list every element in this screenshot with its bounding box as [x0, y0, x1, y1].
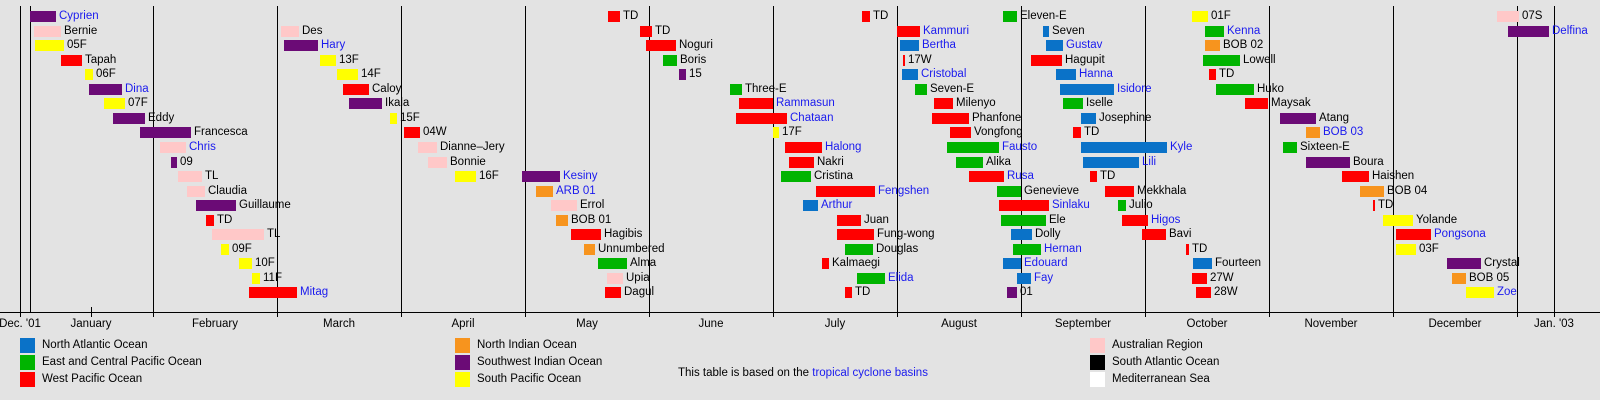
- storm-label[interactable]: Edouard: [1024, 256, 1067, 270]
- storm-bar[interactable]: [640, 26, 652, 37]
- storm-label: 05F: [67, 38, 87, 52]
- storm-label[interactable]: Chris: [189, 140, 216, 154]
- storm-bar[interactable]: [343, 84, 369, 95]
- legend-label: South Pacific Ocean: [477, 373, 581, 385]
- storm-label: Genevieve: [1024, 184, 1079, 198]
- storm-label: TD: [217, 213, 232, 227]
- storm-bar[interactable]: [428, 157, 447, 168]
- storm-label: TD: [1100, 169, 1115, 183]
- storm-bar[interactable]: [932, 113, 969, 124]
- storm-bar[interactable]: [584, 244, 595, 255]
- timeline-row: 05FHaryNoguriBerthaGustavBOB 02: [0, 40, 1600, 51]
- timeline-row: DinaCaloyThree-ESeven-EIsidoreHuko: [0, 84, 1600, 95]
- timeline-row: 10FAlmaKalmaegiEdouardFourteenCrystal: [0, 258, 1600, 269]
- storm-label: Iselle: [1086, 96, 1113, 110]
- axis-tick: [1517, 307, 1518, 317]
- storm-bar[interactable]: [104, 98, 125, 109]
- storm-label: Eddy: [148, 111, 174, 125]
- storm-label: Bernie: [64, 24, 97, 38]
- storm-bar[interactable]: [1452, 273, 1466, 284]
- axis-tick: [1393, 307, 1394, 317]
- storm-label: TD: [1084, 125, 1099, 139]
- axis-tick: [91, 307, 92, 317]
- storm-bar[interactable]: [1090, 171, 1097, 182]
- storm-label: 14F: [361, 67, 381, 81]
- storm-label: Hagibis: [604, 227, 642, 241]
- storm-label[interactable]: Pongsona: [1434, 227, 1486, 241]
- storm-bar[interactable]: [1447, 258, 1481, 269]
- storm-label[interactable]: Cyprien: [59, 9, 99, 23]
- storm-label: Hagupit: [1065, 53, 1105, 67]
- storm-bar[interactable]: [1001, 215, 1046, 226]
- storm-bar[interactable]: [281, 26, 299, 37]
- storm-label: 17F: [782, 125, 802, 139]
- timeline-row: Tapah13FBoris17WHagupitLowell: [0, 55, 1600, 66]
- storm-label[interactable]: Sinlaku: [1052, 198, 1090, 212]
- storm-bar[interactable]: [1031, 55, 1062, 66]
- legend-label: North Atlantic Ocean: [42, 339, 147, 351]
- storm-bar[interactable]: [206, 215, 214, 226]
- storm-bar[interactable]: [337, 69, 358, 80]
- storm-bar[interactable]: [536, 186, 553, 197]
- storm-bar[interactable]: [730, 84, 742, 95]
- storm-label: Lowell: [1243, 53, 1276, 67]
- storm-bar[interactable]: [1193, 258, 1212, 269]
- storm-bar[interactable]: [679, 69, 686, 80]
- storm-label[interactable]: Kyle: [1170, 140, 1192, 154]
- storm-bar[interactable]: [837, 229, 874, 240]
- month-label: March: [323, 318, 355, 330]
- storm-label: Julio: [1129, 198, 1153, 212]
- month-label: October: [1187, 318, 1228, 330]
- storm-label: Francesca: [194, 125, 248, 139]
- storm-label[interactable]: Kesiny: [563, 169, 598, 183]
- storm-bar[interactable]: [1373, 200, 1375, 211]
- timeline-row: 09FUnnumberedDouglasHernanTD03F: [0, 244, 1600, 255]
- storm-bar[interactable]: [1306, 127, 1320, 138]
- storm-label: 04W: [423, 125, 447, 139]
- storm-label[interactable]: Bertha: [922, 38, 956, 52]
- storm-bar[interactable]: [607, 273, 623, 284]
- timeline-row: GuillaumeErrolArthurSinlakuJulioTD: [0, 200, 1600, 211]
- storm-bar[interactable]: [1142, 229, 1166, 240]
- storm-bar[interactable]: [1396, 244, 1416, 255]
- storm-label: Ele: [1049, 213, 1066, 227]
- storm-bar[interactable]: [1043, 26, 1049, 37]
- storm-label[interactable]: Hernan: [1044, 242, 1082, 256]
- storm-label: 17W: [908, 53, 932, 67]
- storm-bar[interactable]: [947, 142, 999, 153]
- storm-label: 09F: [232, 242, 252, 256]
- storm-label: Seven: [1052, 24, 1085, 38]
- storm-label: TD: [855, 285, 870, 299]
- storm-bar[interactable]: [455, 171, 476, 182]
- storm-label[interactable]: Chataan: [790, 111, 833, 125]
- storm-bar[interactable]: [897, 26, 920, 37]
- storm-bar[interactable]: [239, 258, 252, 269]
- storm-bar[interactable]: [1205, 40, 1220, 51]
- storm-bar[interactable]: [1360, 186, 1384, 197]
- storm-label: Dianne–Jery: [440, 140, 505, 154]
- storm-bar[interactable]: [1081, 113, 1096, 124]
- storm-bar[interactable]: [997, 186, 1021, 197]
- storm-label[interactable]: Cristobal: [921, 67, 966, 81]
- storm-label: 11F: [263, 271, 282, 285]
- storm-label: 07F: [128, 96, 148, 110]
- storm-bar[interactable]: [1396, 229, 1431, 240]
- month-label: Dec. '01: [0, 318, 41, 330]
- storm-bar[interactable]: [140, 127, 191, 138]
- storm-label: Boura: [1353, 155, 1384, 169]
- storm-label: Fung-wong: [877, 227, 935, 241]
- storm-bar[interactable]: [862, 11, 870, 22]
- timeline-row: 09BonnieNakriAlikaLiliBoura: [0, 157, 1600, 168]
- storm-label: TD: [655, 24, 670, 38]
- storm-bar[interactable]: [418, 142, 437, 153]
- month-label: April: [451, 318, 474, 330]
- storm-bar[interactable]: [1342, 171, 1369, 182]
- storm-bar[interactable]: [85, 69, 93, 80]
- storm-label: Claudia: [208, 184, 247, 198]
- storm-label: Ikala: [385, 96, 409, 110]
- storm-label[interactable]: Rammasun: [776, 96, 835, 110]
- storm-label: Des: [302, 24, 322, 38]
- storm-label: Nakri: [817, 155, 844, 169]
- storm-label: Maysak: [1271, 96, 1311, 110]
- storm-label: 13F: [339, 53, 359, 67]
- storm-bar[interactable]: [1466, 287, 1494, 298]
- storm-label: BOB 05: [1469, 271, 1509, 285]
- storm-label: 27W: [1210, 271, 1234, 285]
- legend-swatch: [1090, 372, 1105, 387]
- axis-tick: [277, 307, 278, 317]
- storm-bar[interactable]: [34, 26, 61, 37]
- storm-label: Alma: [630, 256, 656, 270]
- timeline-row: Eddy15FChataanPhanfoneJosephineAtang: [0, 113, 1600, 124]
- storm-label[interactable]: Fengshen: [878, 184, 929, 198]
- storm-bar[interactable]: [1245, 98, 1268, 109]
- storm-bar[interactable]: [1011, 229, 1032, 240]
- storm-label[interactable]: Elida: [888, 271, 914, 285]
- storm-label[interactable]: Hary: [321, 38, 345, 52]
- storm-bar[interactable]: [1118, 200, 1126, 211]
- storm-label: Alika: [986, 155, 1011, 169]
- storm-label: TD: [1192, 242, 1207, 256]
- month-label: May: [576, 318, 598, 330]
- storm-label: Juan: [864, 213, 889, 227]
- storm-label[interactable]: Halong: [825, 140, 861, 154]
- storm-bar[interactable]: [1007, 287, 1017, 298]
- storm-label: 01: [1020, 285, 1033, 299]
- month-label: July: [825, 318, 845, 330]
- storm-label: Vongfong: [974, 125, 1023, 139]
- legend-swatch: [20, 338, 35, 353]
- cyclone-timeline-chart: CyprienTDTDEleven-E01F07SBernieDesTDKamm…: [0, 0, 1600, 400]
- storm-label: TL: [205, 169, 218, 183]
- timeline-row: BernieDesTDKammuriSevenKennaDelfina: [0, 26, 1600, 37]
- storm-label: Haishen: [1372, 169, 1414, 183]
- storm-label: 28W: [1214, 285, 1238, 299]
- storm-bar[interactable]: [1003, 11, 1017, 22]
- storm-label: Sixteen-E: [1300, 140, 1350, 154]
- storm-bar[interactable]: [902, 69, 918, 80]
- storm-bar[interactable]: [252, 273, 260, 284]
- storm-label: 06F: [96, 67, 116, 81]
- storm-label[interactable]: Zoe: [1497, 285, 1517, 299]
- storm-label: Yolande: [1416, 213, 1457, 227]
- storm-bar[interactable]: [171, 157, 177, 168]
- storm-label: BOB 01: [571, 213, 611, 227]
- storm-bar[interactable]: [903, 55, 905, 66]
- axis-tick: [525, 307, 526, 317]
- storm-label: Cristina: [814, 169, 853, 183]
- storm-bar[interactable]: [1013, 244, 1041, 255]
- storm-bar[interactable]: [736, 113, 787, 124]
- storm-label[interactable]: Lili: [1142, 155, 1156, 169]
- storm-label[interactable]: Isidore: [1117, 82, 1152, 96]
- month-label: February: [192, 318, 238, 330]
- storm-bar[interactable]: [1122, 215, 1148, 226]
- axis-tick: [649, 307, 650, 317]
- storm-bar[interactable]: [1063, 98, 1083, 109]
- storm-label: Dagul: [624, 285, 654, 299]
- legend-label: East and Central Pacific Ocean: [42, 356, 202, 368]
- storm-label: Atang: [1319, 111, 1349, 125]
- legend-swatch: [455, 338, 470, 353]
- storm-label: Fourteen: [1215, 256, 1261, 270]
- legend-swatch: [20, 372, 35, 387]
- storm-label: Crystal: [1484, 256, 1520, 270]
- legend-label: Southwest Indian Ocean: [477, 356, 602, 368]
- storm-bar[interactable]: [1186, 244, 1189, 255]
- storm-label[interactable]: Kammuri: [923, 24, 969, 38]
- footnote-link[interactable]: tropical cyclone basins: [812, 367, 928, 379]
- storm-bar[interactable]: [61, 55, 82, 66]
- storm-label: 15F: [400, 111, 420, 125]
- storm-label[interactable]: ARB 01: [556, 184, 596, 198]
- storm-label: 10F: [255, 256, 275, 270]
- axis-tick: [897, 307, 898, 317]
- storm-bar[interactable]: [845, 287, 852, 298]
- timeline-row: ClaudiaARB 01FengshenGenevieveMekkhalaBO…: [0, 186, 1600, 197]
- storm-bar[interactable]: [1209, 69, 1216, 80]
- axis-tick: [20, 307, 21, 317]
- storm-label[interactable]: Higos: [1151, 213, 1180, 227]
- legend-swatch: [455, 355, 470, 370]
- storm-bar[interactable]: [598, 258, 627, 269]
- legend-swatch: [1090, 338, 1105, 353]
- storm-bar[interactable]: [1003, 258, 1021, 269]
- storm-bar[interactable]: [1497, 11, 1519, 22]
- storm-bar[interactable]: [803, 200, 818, 211]
- storm-label: 03F: [1419, 242, 1439, 256]
- storm-bar[interactable]: [1383, 215, 1413, 226]
- storm-bar[interactable]: [1056, 69, 1076, 80]
- storm-bar[interactable]: [999, 200, 1049, 211]
- month-label: June: [699, 318, 724, 330]
- timeline-row: 11FUpiaElidaFay27WBOB 05: [0, 273, 1600, 284]
- storm-bar[interactable]: [113, 113, 145, 124]
- storm-label[interactable]: Delfina: [1552, 24, 1588, 38]
- timeline-row: CyprienTDTDEleven-E01F07S: [0, 11, 1600, 22]
- storm-label[interactable]: BOB 03: [1323, 125, 1363, 139]
- storm-label[interactable]: Kenna: [1227, 24, 1260, 38]
- storm-bar[interactable]: [556, 215, 568, 226]
- storm-bar[interactable]: [284, 40, 318, 51]
- storm-bar[interactable]: [571, 229, 601, 240]
- storm-label[interactable]: Hanna: [1079, 67, 1113, 81]
- storm-bar[interactable]: [969, 171, 1004, 182]
- storm-label: Unnumbered: [598, 242, 664, 256]
- storm-bar[interactable]: [1192, 11, 1208, 22]
- storm-label[interactable]: Fay: [1034, 271, 1053, 285]
- storm-label: 01F: [1211, 9, 1231, 23]
- storm-bar[interactable]: [1017, 273, 1031, 284]
- timeline-row: Francesca04W17FVongfongTDBOB 03: [0, 127, 1600, 138]
- storm-label: Seven-E: [930, 82, 974, 96]
- storm-label: Tapah: [85, 53, 116, 67]
- storm-bar[interactable]: [915, 84, 927, 95]
- storm-label: Bavi: [1169, 227, 1191, 241]
- storm-bar[interactable]: [605, 287, 621, 298]
- storm-bar[interactable]: [551, 200, 577, 211]
- storm-bar[interactable]: [1508, 26, 1549, 37]
- storm-bar[interactable]: [646, 40, 676, 51]
- storm-label: TD: [873, 9, 888, 23]
- storm-bar[interactable]: [900, 40, 919, 51]
- storm-bar[interactable]: [1205, 26, 1224, 37]
- storm-bar[interactable]: [1280, 113, 1316, 124]
- storm-bar[interactable]: [1216, 84, 1254, 95]
- storm-label: TL: [267, 227, 280, 241]
- storm-bar[interactable]: [1083, 157, 1139, 168]
- storm-label[interactable]: Dina: [125, 82, 149, 96]
- storm-label: 15: [689, 67, 702, 81]
- storm-bar[interactable]: [1081, 142, 1167, 153]
- storm-label[interactable]: Arthur: [821, 198, 852, 212]
- storm-bar[interactable]: [1073, 127, 1081, 138]
- storm-label: 16F: [479, 169, 499, 183]
- axis-tick: [1269, 307, 1270, 317]
- storm-bar[interactable]: [1105, 186, 1134, 197]
- storm-bar[interactable]: [522, 171, 560, 182]
- storm-label: Josephine: [1099, 111, 1151, 125]
- timeline-row: TLHagibisFung-wongDollyBaviPongsona: [0, 229, 1600, 240]
- legend-label: South Atlantic Ocean: [1112, 356, 1219, 368]
- storm-bar[interactable]: [816, 186, 875, 197]
- storm-bar[interactable]: [785, 142, 822, 153]
- x-axis-line: [0, 312, 1600, 313]
- storm-bar[interactable]: [934, 98, 953, 109]
- storm-bar[interactable]: [1046, 40, 1063, 51]
- month-label: December: [1428, 318, 1481, 330]
- storm-bar[interactable]: [1283, 142, 1297, 153]
- storm-label: Noguri: [679, 38, 713, 52]
- timeline-row: ChrisDianne–JeryHalongFaustoKyleSixteen-…: [0, 142, 1600, 153]
- storm-bar[interactable]: [160, 142, 186, 153]
- storm-bar[interactable]: [187, 186, 205, 197]
- legend-label: Mediterranean Sea: [1112, 373, 1210, 385]
- storm-label: Mekkhala: [1137, 184, 1186, 198]
- storm-label: Huko: [1257, 82, 1284, 96]
- storm-label: TD: [1219, 67, 1234, 81]
- storm-bar[interactable]: [663, 55, 677, 66]
- storm-bar[interactable]: [35, 40, 64, 51]
- storm-bar[interactable]: [837, 215, 861, 226]
- storm-label: Boris: [680, 53, 706, 67]
- axis-tick: [401, 307, 402, 317]
- storm-label: Errol: [580, 198, 604, 212]
- storm-bar[interactable]: [390, 113, 397, 124]
- legend-swatch: [455, 372, 470, 387]
- timeline-row: TL16FKesinyCristinaRusaTDHaishen: [0, 171, 1600, 182]
- storm-bar[interactable]: [822, 258, 829, 269]
- storm-bar[interactable]: [1306, 157, 1350, 168]
- storm-bar[interactable]: [956, 157, 983, 168]
- month-label: Jan. '03: [1534, 318, 1574, 330]
- storm-bar[interactable]: [249, 287, 297, 298]
- storm-bar[interactable]: [196, 200, 236, 211]
- storm-label: Eleven-E: [1020, 9, 1067, 23]
- storm-label: Three-E: [745, 82, 787, 96]
- legend-label: West Pacific Ocean: [42, 373, 142, 385]
- legend-label: North Indian Ocean: [477, 339, 577, 351]
- storm-label[interactable]: Mitag: [300, 285, 328, 299]
- axis-tick: [1021, 307, 1022, 317]
- storm-label: Bonnie: [450, 155, 486, 169]
- storm-label: Guillaume: [239, 198, 291, 212]
- month-label: August: [941, 318, 977, 330]
- storm-bar[interactable]: [950, 127, 971, 138]
- storm-bar[interactable]: [608, 11, 620, 22]
- storm-bar[interactable]: [1060, 84, 1114, 95]
- storm-bar[interactable]: [178, 171, 202, 182]
- storm-label: Kalmaegi: [832, 256, 880, 270]
- storm-label: TD: [623, 9, 638, 23]
- storm-bar[interactable]: [404, 127, 420, 138]
- legend-swatch: [1090, 355, 1105, 370]
- storm-label: BOB 04: [1387, 184, 1427, 198]
- storm-bar[interactable]: [773, 127, 779, 138]
- storm-label: Dolly: [1035, 227, 1061, 241]
- month-label: September: [1055, 318, 1111, 330]
- storm-bar[interactable]: [781, 171, 811, 182]
- storm-bar[interactable]: [89, 84, 122, 95]
- storm-label: Milenyo: [956, 96, 996, 110]
- storm-bar[interactable]: [349, 98, 382, 109]
- storm-label[interactable]: Gustav: [1066, 38, 1102, 52]
- storm-bar[interactable]: [789, 157, 814, 168]
- legend-label: Australian Region: [1112, 339, 1203, 351]
- storm-bar[interactable]: [212, 229, 264, 240]
- storm-label[interactable]: Fausto: [1002, 140, 1037, 154]
- storm-bar[interactable]: [30, 11, 56, 22]
- storm-bar[interactable]: [221, 244, 229, 255]
- storm-bar[interactable]: [1203, 55, 1240, 66]
- storm-bar[interactable]: [857, 273, 885, 284]
- footnote: This table is based on the tropical cycl…: [678, 367, 928, 379]
- storm-label: TD: [1378, 198, 1393, 212]
- storm-bar[interactable]: [845, 244, 873, 255]
- storm-bar[interactable]: [1192, 273, 1207, 284]
- axis-tick: [153, 307, 154, 317]
- storm-label[interactable]: Rusa: [1007, 169, 1034, 183]
- storm-bar[interactable]: [739, 98, 773, 109]
- storm-label: 07S: [1522, 9, 1542, 23]
- storm-bar[interactable]: [1196, 287, 1211, 298]
- storm-bar[interactable]: [320, 55, 336, 66]
- storm-label: Douglas: [876, 242, 918, 256]
